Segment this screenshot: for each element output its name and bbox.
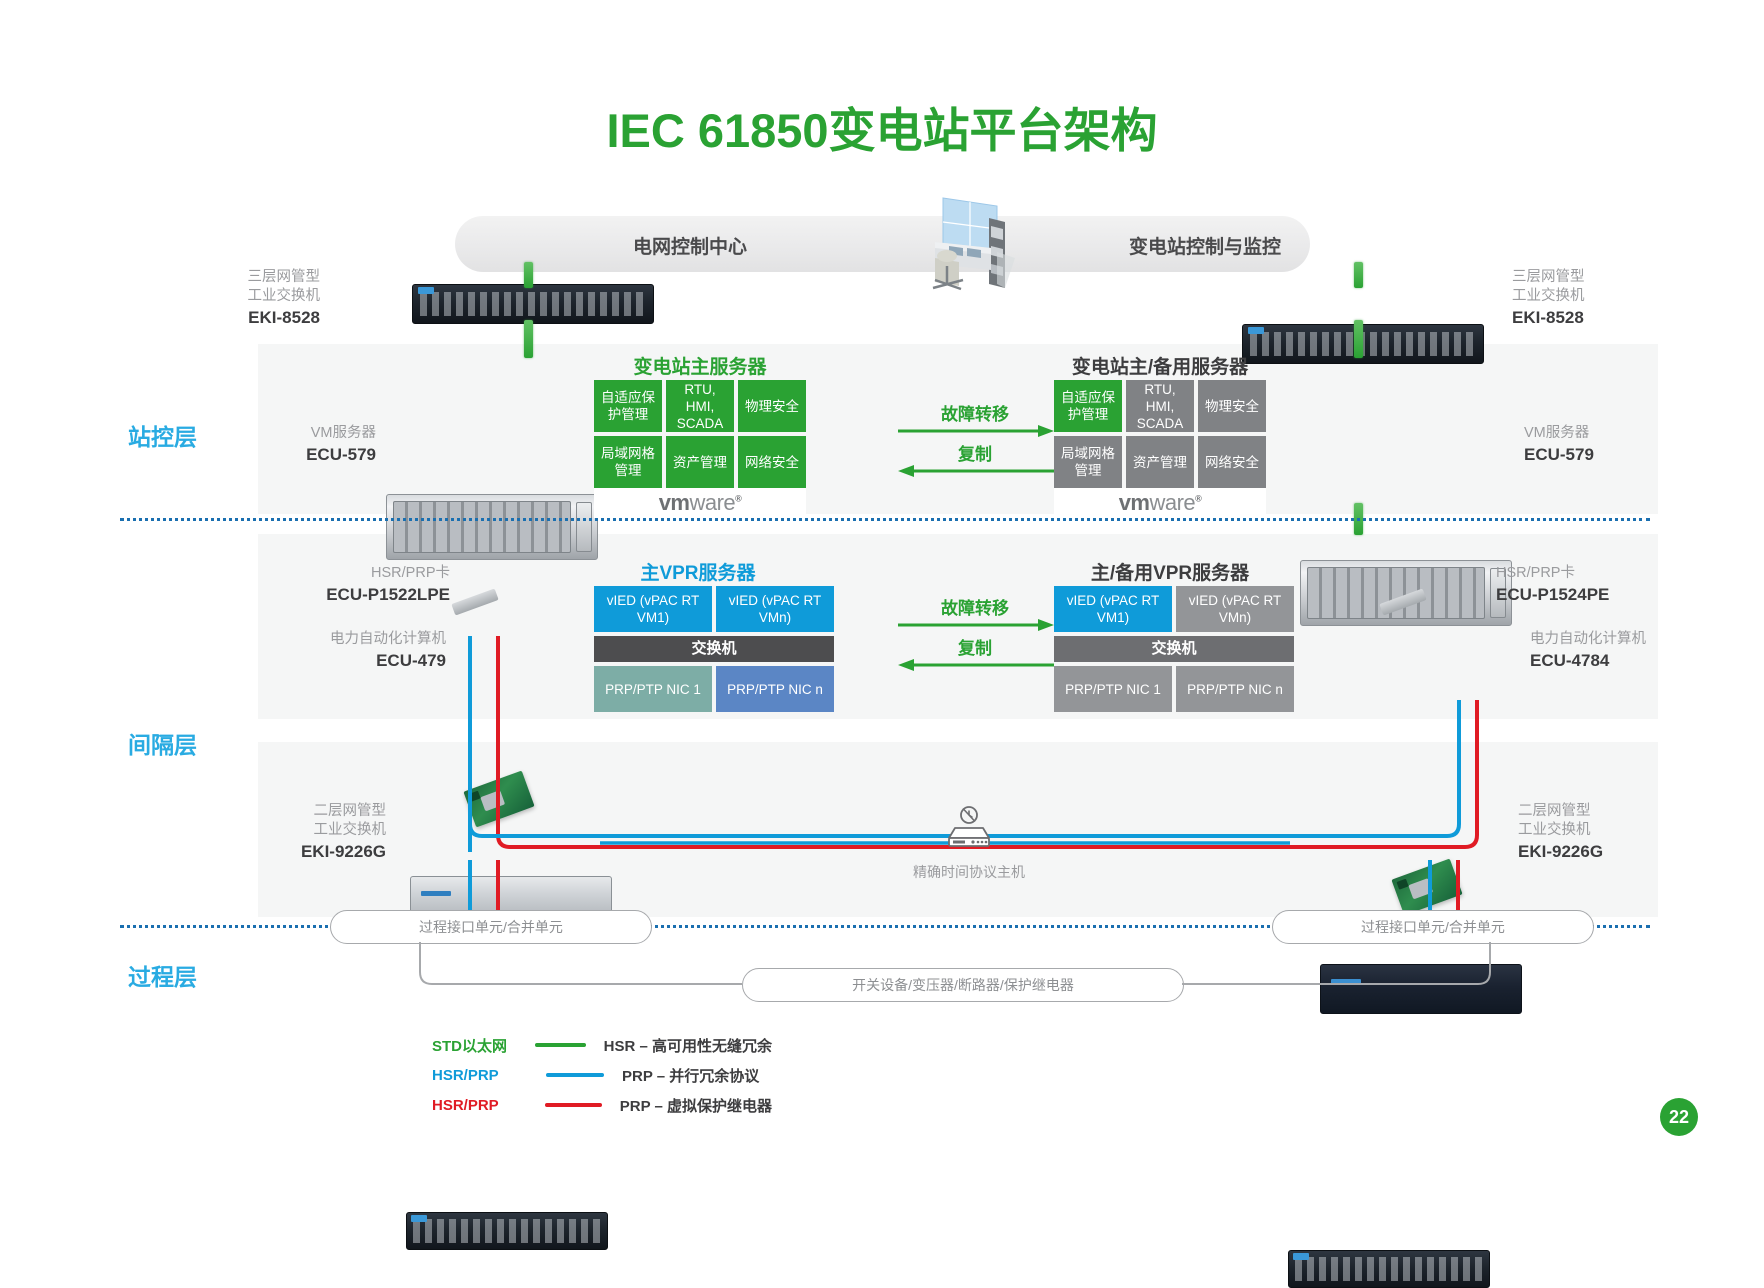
station-replicate-label: 复制 <box>900 440 1050 465</box>
layer-label-process: 过程层 <box>128 958 258 992</box>
switch-l3-right-label: 三层网管型 工业交换机 EKI-8528 <box>1512 268 1652 327</box>
vm-server-right-device <box>1300 560 1512 626</box>
cell-physical-security-standby: 物理安全 <box>1198 380 1266 432</box>
hsr-card-right-model: ECU-P1524PE <box>1496 585 1676 604</box>
layer-label-bay: 间隔层 <box>128 726 258 760</box>
vied-vm1-primary: vIED (vPAC RT VM1) <box>594 586 712 632</box>
vm-server-left-label: VM服务器 ECU-579 <box>256 424 376 464</box>
bay-failover-label: 故障转移 <box>900 594 1050 619</box>
vied-vmn-primary: vIED (vPAC RT VMn) <box>716 586 834 632</box>
switch-l3-left-device <box>412 284 654 324</box>
switch-l3-left-model: EKI-8528 <box>200 308 320 327</box>
primary-vpr-title: 主VPR服务器 <box>588 558 808 585</box>
hsr-card-right-label: HSR/PRP卡 ECU-P1524PE <box>1496 564 1676 604</box>
cell-asset-mgmt-standby: 资产管理 <box>1126 436 1194 488</box>
hsr-card-left-label: HSR/PRP卡 ECU-P1522LPE <box>290 564 450 604</box>
primary-vpr-stack: vIED (vPAC RT VM1) vIED (vPAC RT VMn) 交换… <box>594 586 834 712</box>
switch-l2-left-label: 二层网管型 工业交换机 EKI-9226G <box>256 802 386 861</box>
cell-physical-security: 物理安全 <box>738 380 806 432</box>
switch-l3-left-desc1: 三层网管型 <box>248 269 321 285</box>
banner-left-label: 电网控制中心 <box>560 232 820 259</box>
legend-tag-2: HSR/PRP <box>432 1097 527 1114</box>
separator-station-bay <box>120 518 1650 521</box>
legend-text-0: HSR – 高可用性无缝冗余 <box>604 1035 772 1056</box>
cell-asset-mgmt: 资产管理 <box>666 436 734 488</box>
switch-l2-right-model: EKI-9226G <box>1518 842 1658 861</box>
automation-pc-left-desc: 电力自动化计算机 <box>330 631 446 647</box>
legend-line-1 <box>546 1073 604 1077</box>
switch-l3-right-model: EKI-8528 <box>1512 308 1652 327</box>
ptp-host-label: 精确时间协议主机 <box>849 862 1089 882</box>
switch-l2-left-model: EKI-9226G <box>256 842 386 861</box>
vpr-switch-bar-primary: 交换机 <box>594 636 834 662</box>
automation-pc-right-desc: 电力自动化计算机 <box>1530 631 1646 647</box>
station-replicate-arrow <box>898 464 1054 478</box>
vmware-logo-standby: vmware® <box>1054 488 1266 518</box>
vm-server-left-device <box>386 494 598 560</box>
vmware-logo-primary: vmware® <box>594 488 806 518</box>
switch-l3-left-label: 三层网管型 工业交换机 EKI-8528 <box>200 268 320 327</box>
vm-server-right-desc: VM服务器 <box>1524 425 1589 441</box>
switch-l2-right-desc1: 二层网管型 <box>1518 803 1591 819</box>
standby-vpr-title: 主/备用VPR服务器 <box>1040 558 1300 585</box>
cell-network-security-standby: 网络安全 <box>1198 436 1266 488</box>
nic-n-primary: PRP/PTP NIC n <box>716 666 834 712</box>
cell-adaptive-protection: 自适应保护管理 <box>594 380 662 432</box>
switch-l2-left-desc2: 工业交换机 <box>314 822 387 838</box>
green-link-left-down <box>524 320 533 358</box>
legend-row-0: STD以太网 HSR – 高可用性无缝冗余 <box>432 1032 772 1058</box>
automation-pc-right-device <box>1320 964 1522 1014</box>
legend-tag-0: STD以太网 <box>432 1035 517 1056</box>
standby-server-cellgrid: 自适应保护管理 RTU, HMI, SCADA 物理安全 局域网格管理 资产管理… <box>1054 380 1266 488</box>
primary-vpr-vied-row: vIED (vPAC RT VM1) vIED (vPAC RT VMn) <box>594 586 834 632</box>
bay-failover-arrow <box>898 618 1054 632</box>
green-link-right-down <box>1354 320 1363 358</box>
switch-l2-right-device <box>1288 1250 1490 1288</box>
legend: STD以太网 HSR – 高可用性无缝冗余 HSR/PRP PRP – 并行冗余… <box>432 1032 772 1118</box>
bay-replicate-label: 复制 <box>900 634 1050 659</box>
page-title: IEC 61850变电站平台架构 <box>0 92 1764 161</box>
hsr-card-right-desc: HSR/PRP卡 <box>1496 565 1575 581</box>
vm-server-right-label: VM服务器 ECU-579 <box>1524 424 1644 464</box>
cell-adaptive-protection-standby: 自适应保护管理 <box>1054 380 1122 432</box>
standby-vpr-vied-row: vIED (vPAC RT VM1) vIED (vPAC RT VMn) <box>1054 586 1294 632</box>
banner-right-label: 变电站控制与监控 <box>1055 232 1355 259</box>
hsr-card-left-model: ECU-P1522LPE <box>290 585 450 604</box>
cell-rtu-hmi-scada-standby: RTU, HMI, SCADA <box>1126 380 1194 432</box>
standby-server-stack: 自适应保护管理 RTU, HMI, SCADA 物理安全 局域网格管理 资产管理… <box>1054 380 1266 518</box>
green-link-top-left <box>524 262 533 288</box>
vied-vm1-standby: vIED (vPAC RT VM1) <box>1054 586 1172 632</box>
bay-replicate-arrow <box>898 658 1054 672</box>
layer-label-station: 站控层 <box>128 418 258 452</box>
switch-l3-right-desc2: 工业交换机 <box>1512 288 1585 304</box>
nic-1-standby: PRP/PTP NIC 1 <box>1054 666 1172 712</box>
cell-lan-grid-mgmt: 局域网格管理 <box>594 436 662 488</box>
vm-server-right-model: ECU-579 <box>1524 445 1644 464</box>
legend-row-2: HSR/PRP PRP – 虚拟保护继电器 <box>432 1092 772 1118</box>
legend-tag-1: HSR/PRP <box>432 1067 528 1084</box>
automation-pc-left-label: 电力自动化计算机 ECU-479 <box>256 630 446 670</box>
cell-rtu-hmi-scada: RTU, HMI, SCADA <box>666 380 734 432</box>
legend-line-0 <box>535 1043 586 1047</box>
nic-n-standby: PRP/PTP NIC n <box>1176 666 1294 712</box>
automation-pc-left-model: ECU-479 <box>256 651 446 670</box>
switch-l2-right-label: 二层网管型 工业交换机 EKI-9226G <box>1518 802 1658 861</box>
green-link-top-right <box>1354 262 1363 288</box>
process-interface-unit-left: 过程接口单元/合并单元 <box>330 910 652 944</box>
vm-server-left-model: ECU-579 <box>256 445 376 464</box>
page-number-badge: 22 <box>1660 1098 1698 1136</box>
primary-server-stack: 自适应保护管理 RTU, HMI, SCADA 物理安全 局域网格管理 资产管理… <box>594 380 806 518</box>
legend-row-1: HSR/PRP PRP – 并行冗余协议 <box>432 1062 772 1088</box>
station-failover-arrow <box>898 424 1054 438</box>
nic-1-primary: PRP/PTP NIC 1 <box>594 666 712 712</box>
vied-vmn-standby: vIED (vPAC RT VMn) <box>1176 586 1294 632</box>
control-room-illustration <box>905 196 1015 294</box>
process-interface-unit-right: 过程接口单元/合并单元 <box>1272 910 1594 944</box>
switchgear-pill: 开关设备/变压器/断路器/保护继电器 <box>742 968 1184 1002</box>
standby-vpr-stack: vIED (vPAC RT VM1) vIED (vPAC RT VMn) 交换… <box>1054 586 1294 712</box>
hsr-card-left-desc: HSR/PRP卡 <box>371 565 450 581</box>
primary-server-title: 变电站主服务器 <box>590 352 810 379</box>
standby-vpr-nic-row: PRP/PTP NIC 1 PRP/PTP NIC n <box>1054 666 1294 712</box>
vpr-switch-bar-standby: 交换机 <box>1054 636 1294 662</box>
vm-server-left-desc: VM服务器 <box>311 425 376 441</box>
automation-pc-right-model: ECU-4784 <box>1530 651 1720 670</box>
ptp-host-icon <box>935 806 1003 854</box>
switch-l3-right-desc1: 三层网管型 <box>1512 269 1585 285</box>
legend-text-1: PRP – 并行冗余协议 <box>622 1065 759 1086</box>
standby-server-title: 变电站主/备用服务器 <box>1030 352 1290 379</box>
automation-pc-right-label: 电力自动化计算机 ECU-4784 <box>1530 630 1720 670</box>
primary-server-cellgrid: 自适应保护管理 RTU, HMI, SCADA 物理安全 局域网格管理 资产管理… <box>594 380 806 488</box>
station-failover-label: 故障转移 <box>900 400 1050 425</box>
primary-vpr-nic-row: PRP/PTP NIC 1 PRP/PTP NIC n <box>594 666 834 712</box>
switch-l3-left-desc2: 工业交换机 <box>248 288 321 304</box>
switch-l2-left-device <box>406 1212 608 1250</box>
cell-lan-grid-mgmt-standby: 局域网格管理 <box>1054 436 1122 488</box>
cell-network-security: 网络安全 <box>738 436 806 488</box>
switch-l2-left-desc1: 二层网管型 <box>314 803 387 819</box>
legend-text-2: PRP – 虚拟保护继电器 <box>620 1095 772 1116</box>
switch-l2-right-desc2: 工业交换机 <box>1518 822 1591 838</box>
legend-line-2 <box>545 1103 602 1107</box>
